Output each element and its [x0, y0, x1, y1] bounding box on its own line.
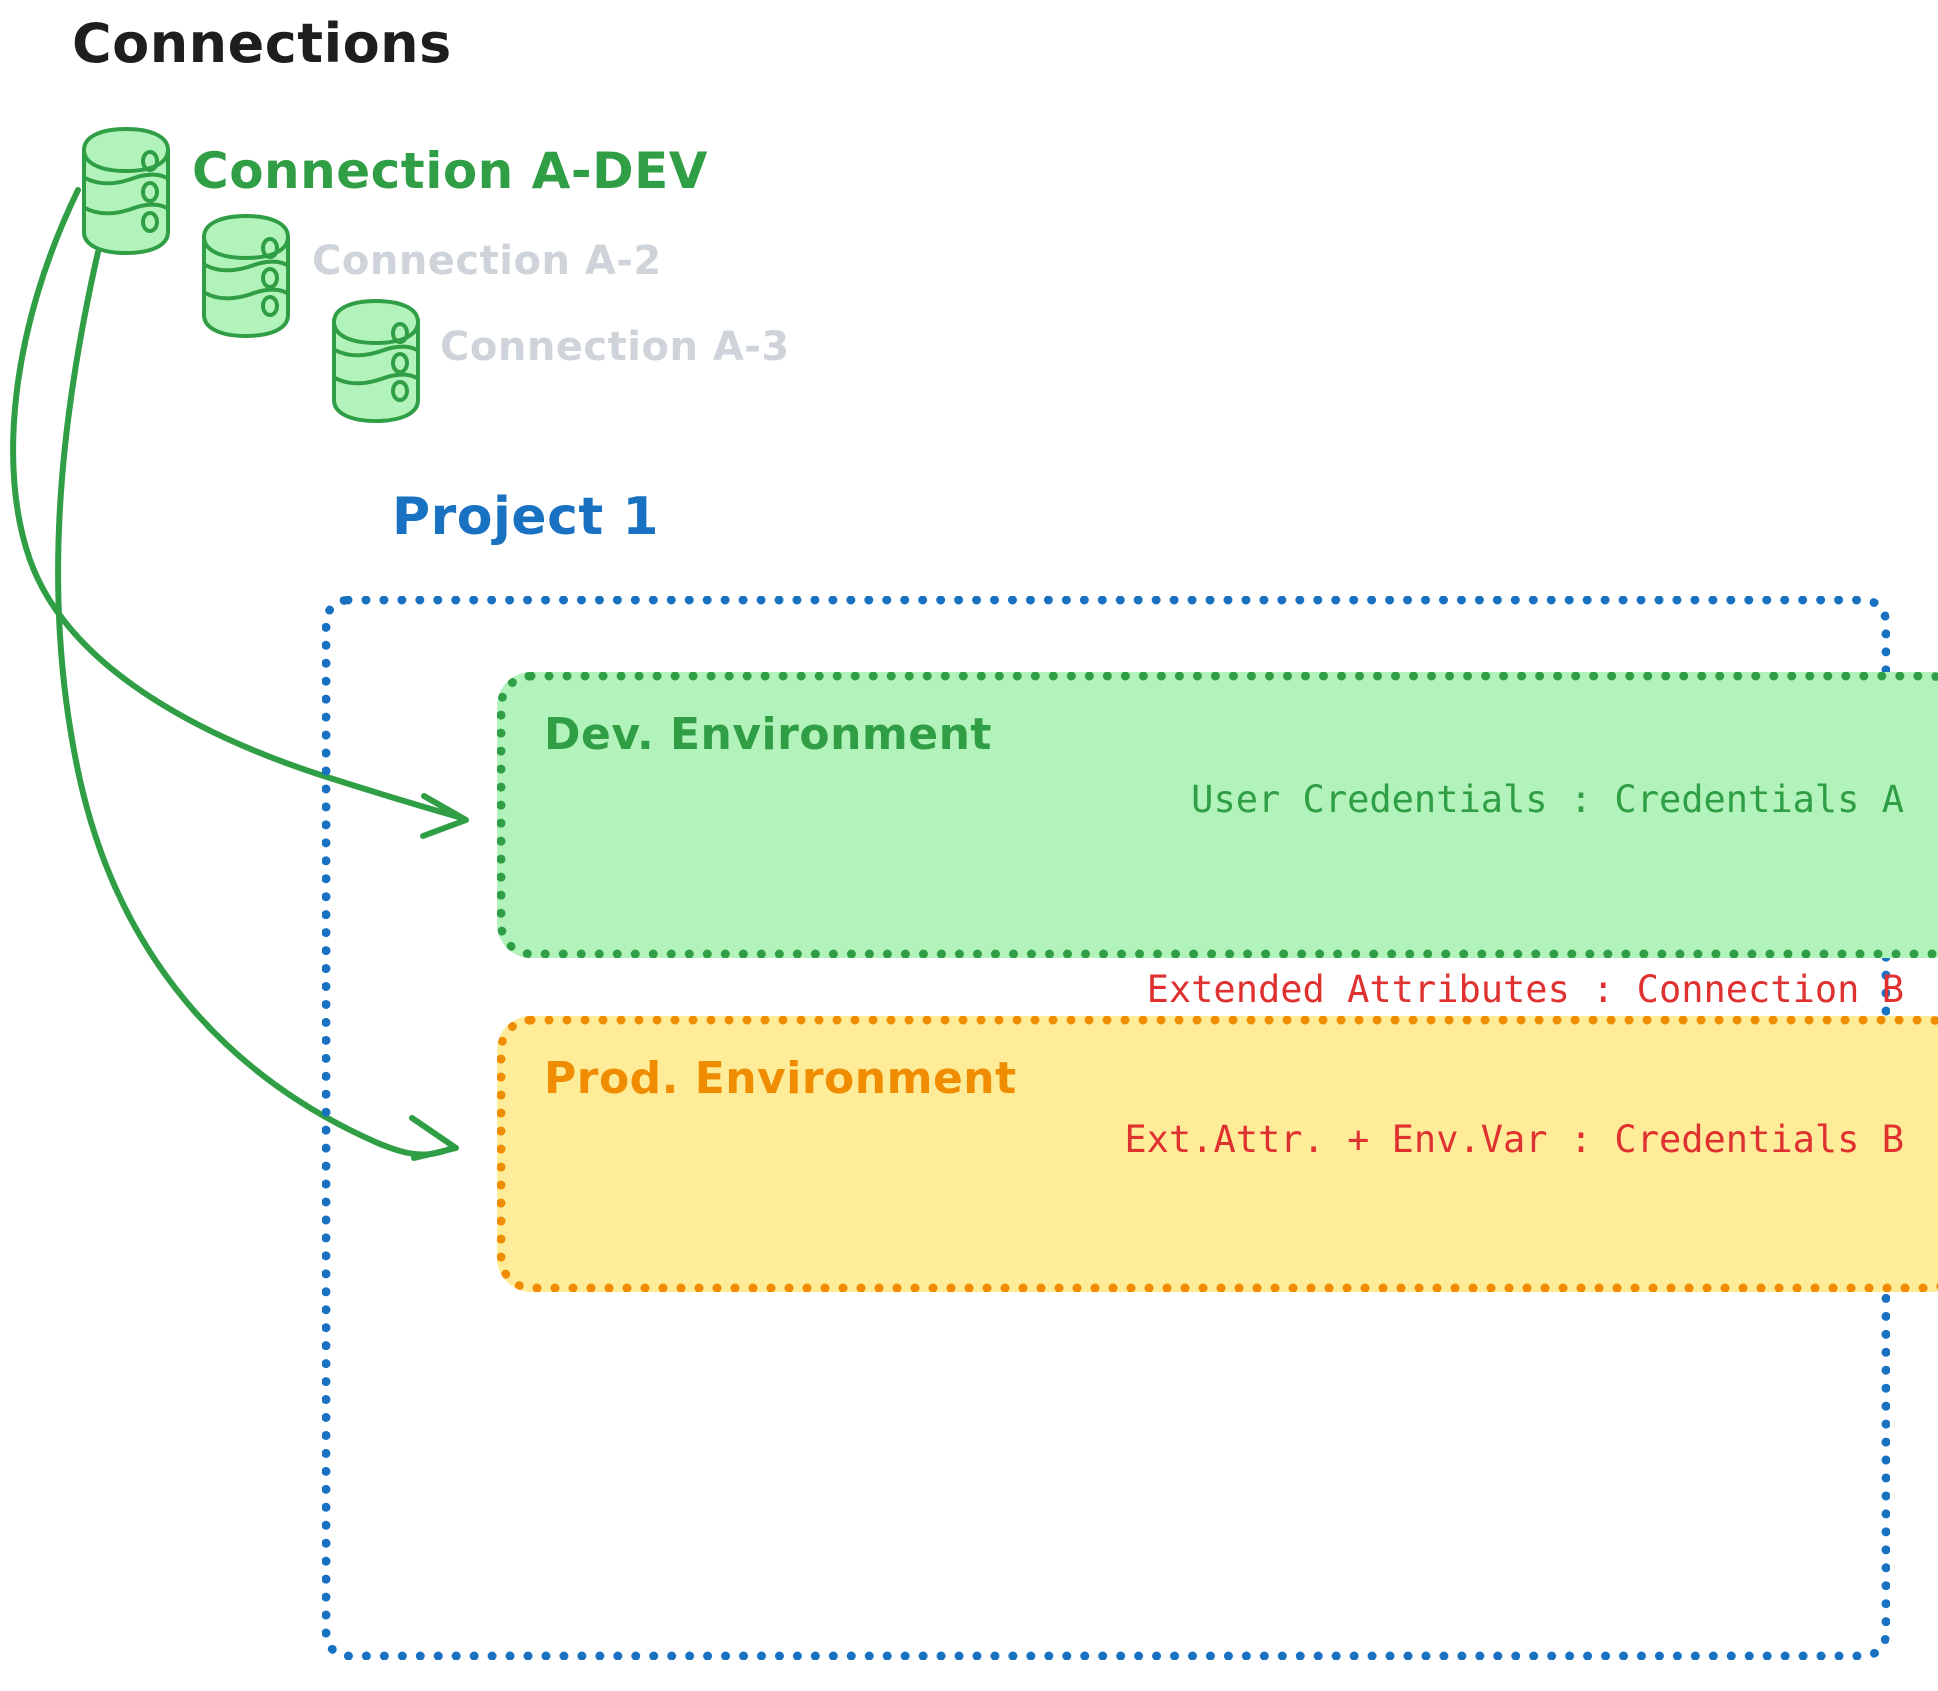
database-icon[interactable] [84, 129, 168, 253]
prod-extended-attributes-line: Extended Attributes : Connection B [1124, 965, 1904, 1015]
connection-label-a-2[interactable]: Connection A-2 [312, 238, 662, 284]
prod-environment-heading: Prod. Environment [544, 1053, 1017, 1104]
database-icon[interactable] [334, 301, 418, 421]
prod-environment-box[interactable]: Prod. Environment Extended Attributes : … [497, 1016, 1938, 1292]
diagram-canvas: Connections Connection A-DEV Connection … [0, 0, 1938, 1691]
dev-credentials-line: User Credentials : Credentials A [1191, 775, 1904, 825]
project-title: Project 1 [392, 487, 659, 547]
prod-env-var-line: Ext.Attr. + Env.Var : Credentials B [1124, 1115, 1904, 1165]
prod-environment-attributes: Extended Attributes : Connection B Ext.A… [1124, 865, 1904, 1265]
page-title: Connections [72, 12, 452, 75]
connection-label-a-3[interactable]: Connection A-3 [440, 324, 790, 370]
connection-label-a-dev[interactable]: Connection A-DEV [192, 142, 708, 200]
database-icon[interactable] [204, 216, 288, 336]
dev-environment-heading: Dev. Environment [544, 709, 992, 760]
